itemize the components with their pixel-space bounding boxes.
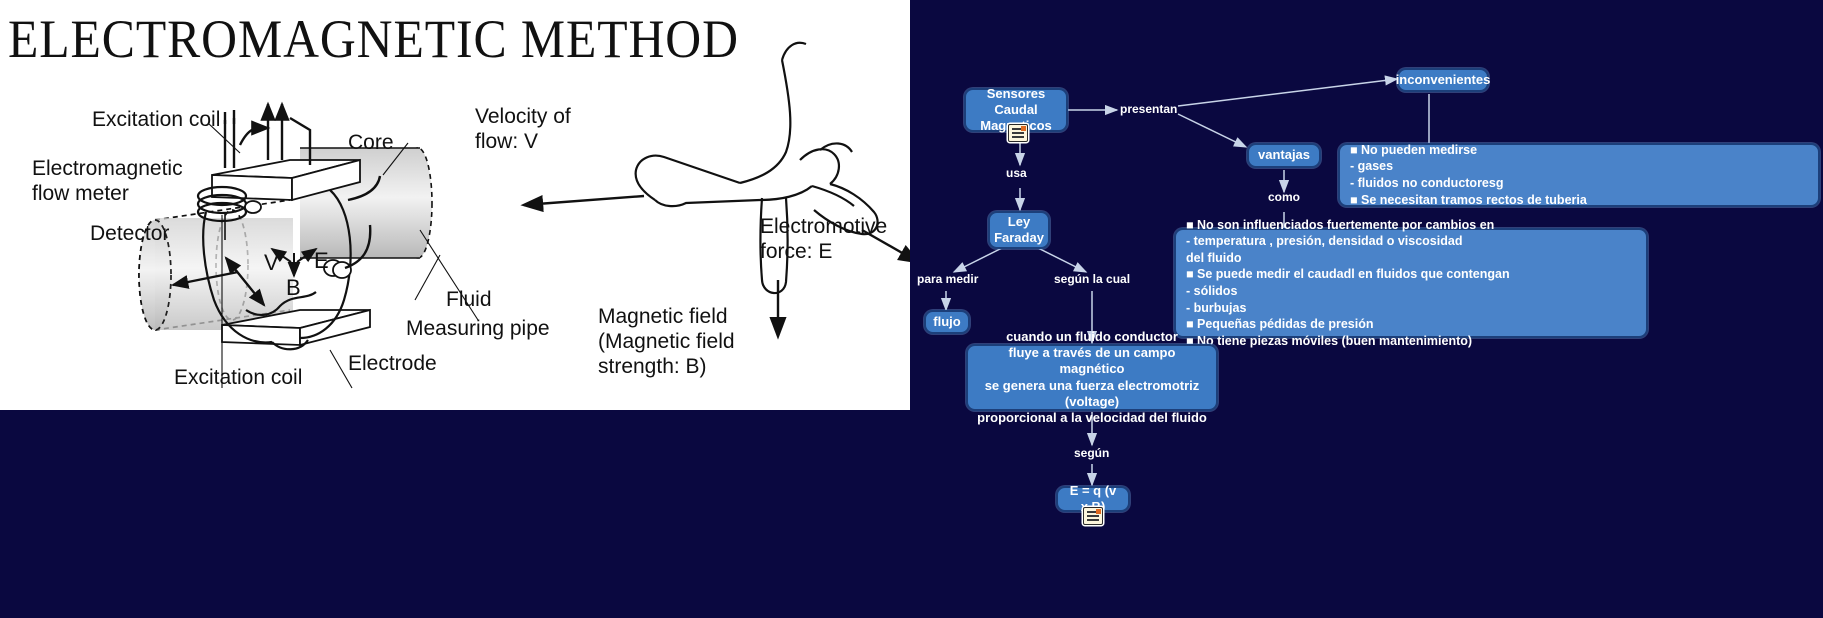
edge-label-segun: según (1074, 446, 1109, 460)
label-measuring-pipe: Measuring pipe (406, 317, 550, 342)
label-electromagnetic-flow-meter: Electromagnetic flow meter (32, 157, 183, 207)
node-definicion-ley-faraday[interactable]: cuando un fluido conductor fluye a travé… (966, 344, 1218, 411)
edge-label-presentan: presentan (1120, 102, 1177, 116)
edge-label-como: como (1268, 190, 1300, 204)
label-excitation-coil-top: Excitation coil (92, 108, 220, 133)
left-slide-panel: ELECTROMAGNETIC METHOD (0, 0, 910, 410)
label-velocity-of-flow: Velocity of flow: V (475, 105, 571, 155)
slide-background-strip (0, 410, 910, 618)
node-inconvenientes-detail[interactable]: ■ No pueden medirse - gases - fluidos no… (1338, 143, 1820, 207)
label-vector-e: E (314, 248, 329, 274)
label-detector: Detector (90, 222, 169, 247)
label-vector-b: B (286, 275, 301, 301)
label-magnetic-field: Magnetic field (Magnetic field strength:… (598, 305, 735, 379)
edge-label-segun-la-cual: según la cual (1054, 272, 1130, 286)
note-attachment-icon[interactable] (1008, 124, 1028, 142)
label-electrode: Electrode (348, 352, 437, 377)
edge-label-para-medir: para medir (917, 272, 978, 286)
node-inconvenientes[interactable]: inconvenientes (1397, 68, 1489, 92)
edge-label-usa: usa (1006, 166, 1027, 180)
node-ley-faraday[interactable]: Ley Faraday (988, 211, 1050, 249)
node-flujo[interactable]: flujo (924, 310, 970, 334)
concept-map-panel: Sensores Caudal Magneticos Ley Faraday f… (910, 0, 1823, 618)
label-electromotive-force: Electromotive force: E (760, 215, 887, 265)
label-core: Core (348, 131, 394, 156)
node-vantajas-detail[interactable]: ■ No son influenciados fuertemente por c… (1174, 228, 1648, 338)
label-excitation-coil-bottom: Excitation coil (174, 366, 302, 391)
label-vector-v: V (264, 250, 279, 276)
formula-note-attachment-icon[interactable] (1083, 507, 1103, 525)
node-vantajas[interactable]: vantajas (1247, 143, 1321, 168)
label-fluid: Fluid (446, 288, 492, 313)
